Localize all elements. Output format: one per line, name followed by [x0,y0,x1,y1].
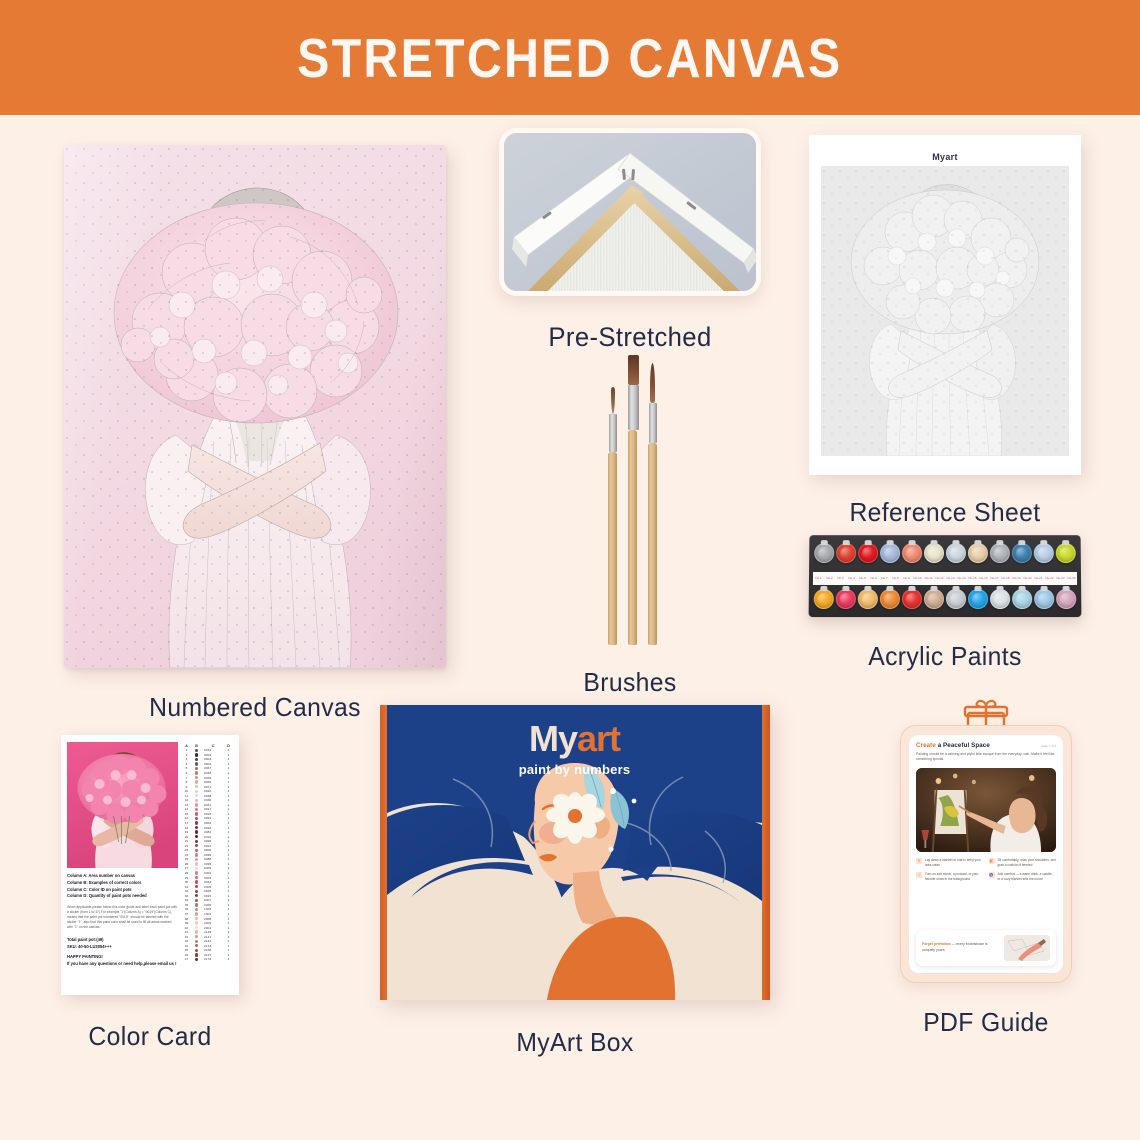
cell-color-swatch [191,890,202,893]
cell-color-swatch [191,808,202,811]
cell-color-swatch [191,758,202,761]
cell-area-number: 42 [182,935,191,939]
cell-area-number: 38 [182,917,191,921]
product-acrylic-paints[interactable]: No.1No.2No.3No.4No.5No.6No.7No.8No.9No.1… [800,535,1090,672]
paint-pot-top-11 [1034,543,1054,563]
paint-pot-bottom-2 [836,589,856,609]
cell-quantity: 1 [224,903,233,907]
paint-tick-23: No.23 [1055,577,1066,580]
cell-quantity: 1 [224,821,233,825]
paint-pot-top-7 [946,543,966,563]
paint-pot-bottom-10 [1012,589,1032,609]
color-card-footer: Total paint pot:(49) SKU: 40-50-LU3054++… [67,936,178,968]
canvas-artwork-svg [64,145,446,668]
cell-quantity: 1 [224,794,233,798]
cell-color-id: 0091 [202,844,224,848]
reference-sheet-artwork [821,166,1069,456]
myart-box-image: Myart paint by numbers [380,705,770,1000]
paint-tick-9: No.9 [901,577,912,580]
cell-area-number: 40 [182,926,191,930]
paint-pot-bottom-1 [814,589,834,609]
cell-color-swatch [191,917,202,920]
cell-area-number: 26 [182,862,191,866]
cell-color-id: 2009 [202,921,224,925]
cell-color-id: 0405 [202,885,224,889]
canvas-image [64,145,446,668]
paint-pot-bottom-12 [1056,589,1076,609]
pdf-guide-label: PDF Guide [885,1007,1086,1038]
pdf-guide-card: Create a Peaceful Space page 1 of 1 Pain… [900,725,1072,983]
pdf-tips-list: ✎Lay down a blanket or mat to keep your … [916,858,1056,882]
page-title: STRETCHED CANVAS [297,26,842,90]
paint-pot-top-4 [880,543,900,563]
brush-handle [628,430,637,645]
paint-row-top [814,539,1076,572]
cell-quantity: 1 [224,957,233,961]
cell-area-number: 30 [182,880,191,884]
total-paint-pot: Total paint pot:(49) [67,936,178,943]
cell-area-number: 37 [182,912,191,916]
cell-area-number: 20 [182,835,191,839]
pdf-tip-text: Turn on soft music, a podcast, or your f… [925,872,984,882]
cell-quantity: 1 [224,880,233,884]
brush-liner [648,363,657,645]
paint-pot-bottom-3 [858,589,878,609]
paint-tick-7: No.7 [879,577,890,580]
cell-area-number: 12 [182,798,191,802]
cell-area-number: 43 [182,939,191,943]
brush-set [500,355,760,645]
cell-area-number: 39 [182,921,191,925]
cell-color-swatch [191,767,202,770]
paint-tick-22: No.22 [1044,577,1055,580]
box-front-face: Myart paint by numbers [387,705,762,1000]
cell-quantity: 1 [224,839,233,843]
paint-tray: No.1No.2No.3No.4No.5No.6No.7No.8No.9No.1… [809,535,1082,617]
paint-pot-top-2 [836,543,856,563]
cell-quantity: 1 [224,771,233,775]
pdf-highlight-note: Forget perfection — every brushstroke is… [916,930,1056,966]
cell-area-number: 10 [182,789,191,793]
color-card-label: Color Card [36,1021,264,1052]
paint-pot-top-9 [990,543,1010,563]
cell-quantity: 1 [224,844,233,848]
cell-quantity: 1 [224,953,233,957]
product-reference-sheet[interactable]: Myart [800,135,1090,528]
cell-quantity: 1 [224,871,233,875]
cell-area-number: 29 [182,876,191,880]
cell-quantity: 1 [224,757,233,761]
contact-line: If you have any questions or need help,p… [67,960,178,967]
cell-color-swatch [191,862,202,865]
paint-tick-17: No.17 [989,577,1000,580]
pdf-title: Create a Peaceful Space [916,742,990,749]
cell-color-swatch [191,871,202,874]
cell-color-swatch [191,853,202,856]
cell-color-swatch [191,958,202,961]
pdf-title-rest: a Peaceful Space [936,742,990,749]
cell-quantity: 1 [224,894,233,898]
candle-icon: ♑ [989,872,995,878]
happy-painting: HAPPY PAINTING! [67,953,178,960]
cell-quantity: 1 [224,780,233,784]
product-grid: Numbered Canvas [0,115,1140,1140]
cell-quantity: 1 [224,826,233,830]
cell-color-id: 0925 [202,894,224,898]
cell-color-id: 2158 [202,948,224,952]
cell-color-swatch [191,885,202,888]
paint-tick-18: No.18 [1000,577,1011,580]
cell-quantity: 1 [224,862,233,866]
cell-color-id: 0031 [202,803,224,807]
cell-color-swatch [191,930,202,933]
paint-pot-top-3 [858,543,878,563]
paint-pot-top-10 [1012,543,1032,563]
cell-color-id: 0060 [202,780,224,784]
cell-quantity: 1 [224,948,233,952]
cell-color-swatch [191,867,202,870]
cell-color-swatch [191,908,202,911]
cell-color-swatch [191,844,202,847]
legend-line: Column D: Quantity of paint pots needed [67,893,178,900]
paint-tick-20: No.20 [1022,577,1033,580]
cell-color-swatch [191,858,202,861]
pdf-tip-text: Lay down a blanket or mat to keep your a… [925,858,984,868]
cell-area-number: 2 [182,753,191,757]
cell-area-number: 15 [182,812,191,816]
paint-tick-12: No.12 [934,577,945,580]
paint-pot-bottom-4 [880,589,900,609]
paint-pot-bottom-8 [968,589,988,609]
cell-color-swatch [191,894,202,897]
cell-color-id: 1303 [202,907,224,911]
cell-color-swatch [191,835,202,838]
cell-quantity: 1 [224,885,233,889]
cell-color-swatch [191,912,202,915]
pdf-note-text: Forget perfection — every brushstroke is… [922,942,999,953]
cell-area-number: 1 [182,748,191,752]
cell-color-id: 0003 [202,757,224,761]
paint-pot-bottom-6 [924,589,944,609]
product-pdf-guide[interactable]: Create a Peaceful Space page 1 of 1 Pain… [880,725,1092,1038]
cell-color-id: 2141 [202,935,224,939]
cell-quantity: 1 [224,848,233,852]
brush-ferrule [628,385,639,430]
sku-code: SKU: 40-50-LU3054+++ [67,943,178,950]
pdf-page: Create a Peaceful Space page 1 of 1 Pain… [909,735,1063,973]
paint-pot-bottom-9 [990,589,1010,609]
cell-quantity: 1 [224,816,233,820]
music-icon: ♪ [916,872,922,878]
cell-color-swatch [191,785,202,788]
cell-quantity: 1 [224,889,233,893]
brushes-label: Brushes [507,667,754,698]
cell-color-swatch [191,849,202,852]
cell-quantity: 1 [224,798,233,802]
paint-tick-16: No.16 [978,577,989,580]
paint-tick-21: No.21 [1033,577,1044,580]
cell-quantity: 1 [224,753,233,757]
color-card-table: A B C D 10019120002130003140004150067160… [182,742,233,988]
brush-bristle [650,363,655,403]
pdf-tip: ◧Sit comfortably, relax your shoulders, … [989,858,1057,868]
reference-sheet-label: Reference Sheet [807,497,1083,528]
cell-color-id: 0084 [202,830,224,834]
cell-color-id: 0020 [202,789,224,793]
brush-bristle [611,387,615,414]
cell-color-swatch [191,803,202,806]
cell-quantity: 1 [224,812,233,816]
paint-pot-top-12 [1056,543,1076,563]
cell-color-swatch [191,794,202,797]
pdf-subtitle: Painting should be a calming and joyful … [916,752,1056,763]
color-table-row: 4721761 [182,957,233,962]
cell-color-swatch [191,935,202,938]
cell-color-id: 0018 [202,812,224,816]
product-numbered-canvas[interactable]: Numbered Canvas [55,145,455,723]
cell-color-id: 0004 [202,762,224,766]
seat-icon: ◧ [989,858,995,864]
box-left-edge [380,705,387,1000]
cell-color-id: 0017 [202,807,224,811]
paint-pot-top-5 [902,543,922,563]
cell-area-number: 27 [182,866,191,870]
color-card-sheet: Column A: Area number on canvas Column B… [61,735,239,995]
brush-handle [608,452,617,645]
paint-tick-19: No.19 [1011,577,1022,580]
cell-color-swatch [191,899,202,902]
cell-color-id: 0019 [202,748,224,752]
cell-color-swatch [191,780,202,783]
cell-area-number: 32 [182,889,191,893]
cell-quantity: 1 [224,907,233,911]
pdf-tip: ♑Add comfort — a warm drink, a candle, o… [989,872,1057,882]
cell-color-swatch [191,903,202,906]
cell-color-id: 0048 [202,771,224,775]
cell-area-number: 22 [182,844,191,848]
cell-area-number: 19 [182,830,191,834]
cell-color-id: 0038 [202,794,224,798]
pdf-header: Create a Peaceful Space page 1 of 1 [916,742,1056,749]
legend-line: Column B: Examples of correct colors [67,880,178,887]
cell-area-number: 35 [182,903,191,907]
paint-tick-15: No.15 [967,577,978,580]
paint-tick-14: No.14 [956,577,967,580]
cell-quantity: 1 [224,944,233,948]
cell-area-number: 28 [182,871,191,875]
cell-color-swatch [191,771,202,774]
cell-color-id: 1301 [202,912,224,916]
cell-color-id: 0310 [202,835,224,839]
cell-quantity: 1 [224,857,233,861]
paint-pot-top-1 [814,543,834,563]
box-artwork-svg [387,705,762,1000]
paint-pot-top-8 [968,543,988,563]
brush-flat [628,355,639,645]
cell-color-id: 2127 [202,953,224,957]
cell-color-swatch [191,830,202,833]
cell-color-id: 2001 [202,926,224,930]
cell-color-swatch [191,776,202,779]
cell-color-id: 2143 [202,944,224,948]
cell-color-id: 0088 [202,857,224,861]
pre-stretched-label: Pre-Stretched [496,322,764,353]
brush-small-round [608,387,617,645]
cell-area-number: 33 [182,894,191,898]
cell-color-swatch [191,799,202,802]
cell-area-number: 14 [182,807,191,811]
paint-tick-4: No.4 [846,577,857,580]
reference-sheet-logo: Myart [821,152,1069,162]
paint-pot-bottom-7 [946,589,966,609]
product-brushes[interactable]: Brushes [500,355,760,698]
brush-icon: ✎ [916,858,922,864]
cell-area-number: 36 [182,907,191,911]
legend-line: Column A: Area number on canvas [67,873,178,880]
cell-quantity: 1 [224,930,233,934]
paint-tick-5: No.5 [857,577,868,580]
pdf-page-number: page 1 of 1 [1041,744,1056,748]
cell-color-swatch [191,812,202,815]
cell-color-id: 0095 [202,853,224,857]
cell-color-swatch [191,826,202,829]
cell-color-id: 0925 [202,889,224,893]
box-right-edge [762,705,770,1000]
paint-tick-2: No.2 [824,577,835,580]
cell-area-number: 46 [182,953,191,957]
cell-color-id: 0071 [202,785,224,789]
cell-area-number: 9 [182,785,191,789]
cell-area-number: 21 [182,839,191,843]
paint-tick-11: No.11 [923,577,934,580]
cell-quantity: 1 [224,898,233,902]
cell-area-number: 13 [182,803,191,807]
pdf-tip-text: Sit comfortably, relax your shoulders, a… [998,858,1057,868]
cell-color-id: 0030 [202,798,224,802]
cell-area-number: 45 [182,948,191,952]
cell-color-id: 2142 [202,939,224,943]
cell-color-swatch [191,940,202,943]
cell-color-swatch [191,944,202,947]
cell-color-id: 0403 [202,876,224,880]
pdf-photo [916,768,1056,852]
cell-color-swatch [191,790,202,793]
cell-color-id: 0096 [202,839,224,843]
pdf-note-accent: Forget perfection [922,942,951,946]
cell-area-number: 24 [182,853,191,857]
cell-quantity: 1 [224,917,233,921]
cell-area-number: 18 [182,826,191,830]
paint-tick-3: No.3 [835,577,846,580]
cell-color-swatch [191,821,202,824]
cell-quantity: 1 [224,789,233,793]
cell-quantity: 1 [224,807,233,811]
painting-scene-illustration [916,768,1056,852]
cell-quantity: 1 [224,853,233,857]
cell-color-id: 0406 [202,903,224,907]
cell-area-number: 6 [182,771,191,775]
paint-row-bottom [814,585,1077,618]
cell-area-number: 7 [182,776,191,780]
myart-box-label: MyArt Box [385,1027,765,1058]
paint-tick-1: No.1 [813,577,824,580]
reference-sheet-paper: Myart [809,135,1081,475]
product-pre-stretched[interactable]: Pre-Stretched [489,128,771,353]
paint-tick-6: No.6 [868,577,879,580]
cell-quantity: 3 [224,935,233,939]
cell-color-swatch [191,926,202,929]
cell-quantity: 1 [224,876,233,880]
brush-bristle [628,355,639,385]
color-card-photo [67,742,178,868]
cell-quantity: 1 [224,776,233,780]
paint-tick-8: No.8 [890,577,901,580]
cell-quantity: 1 [224,748,233,752]
brush-handle [648,443,657,645]
cell-quantity: 1 [224,762,233,766]
cell-color-id: 0454 [202,880,224,884]
cell-color-id: 0067 [202,766,224,770]
col-header-b: B [191,744,202,748]
cell-color-swatch [191,840,202,843]
cell-color-swatch [191,753,202,756]
cell-color-id: 2008 [202,917,224,921]
product-color-card[interactable]: Column A: Area number on canvas Column B… [30,735,270,1052]
cell-quantity: 1 [224,912,233,916]
cell-quantity: 1 [224,803,233,807]
cell-quantity: 1 [224,830,233,834]
cell-color-id: 0409 [202,866,224,870]
paint-pot-bottom-5 [902,589,922,609]
pdf-tip-text: Add comfort — a warm drink, a candle, or… [998,872,1057,882]
cell-quantity: 1 [224,926,233,930]
cell-area-number: 17 [182,821,191,825]
cell-area-number: 47 [182,957,191,961]
cell-color-swatch [191,953,202,956]
cell-color-swatch [191,876,202,879]
cell-area-number: 16 [182,816,191,820]
cell-color-swatch [191,749,202,752]
color-table-body: 1001912000213000314000415006716004817004… [182,748,233,962]
cell-color-id: 0407 [202,898,224,902]
paint-pot-top-6 [924,543,944,563]
cell-color-id: 0402 [202,871,224,875]
pre-stretched-photo [499,128,761,296]
cell-area-number: 23 [182,848,191,852]
cell-quantity: 1 [224,835,233,839]
cell-area-number: 44 [182,944,191,948]
product-myart-box[interactable]: Myart paint by numbers MyArt Box [375,705,775,1058]
cell-color-id: 0002 [202,753,224,757]
paint-number-strip: No.1No.2No.3No.4No.5No.6No.7No.8No.9No.1… [813,572,1077,585]
hand-painting-thumbnail [1004,935,1050,961]
cell-quantity: 1 [224,866,233,870]
cell-area-number: 4 [182,762,191,766]
cell-area-number: 25 [182,857,191,861]
cell-area-number: 41 [182,930,191,934]
cell-color-swatch [191,949,202,952]
cell-area-number: 31 [182,885,191,889]
cell-area-number: 34 [182,898,191,902]
canvas-corner-illustration [504,133,761,296]
page-header: STRETCHED CANVAS [0,0,1140,115]
cell-quantity: 1 [224,921,233,925]
brush-ferrule [649,403,657,443]
paint-tick-13: No.13 [945,577,956,580]
cell-color-swatch [191,817,202,820]
paint-tick-10: No.10 [912,577,923,580]
cell-color-swatch [191,762,202,765]
